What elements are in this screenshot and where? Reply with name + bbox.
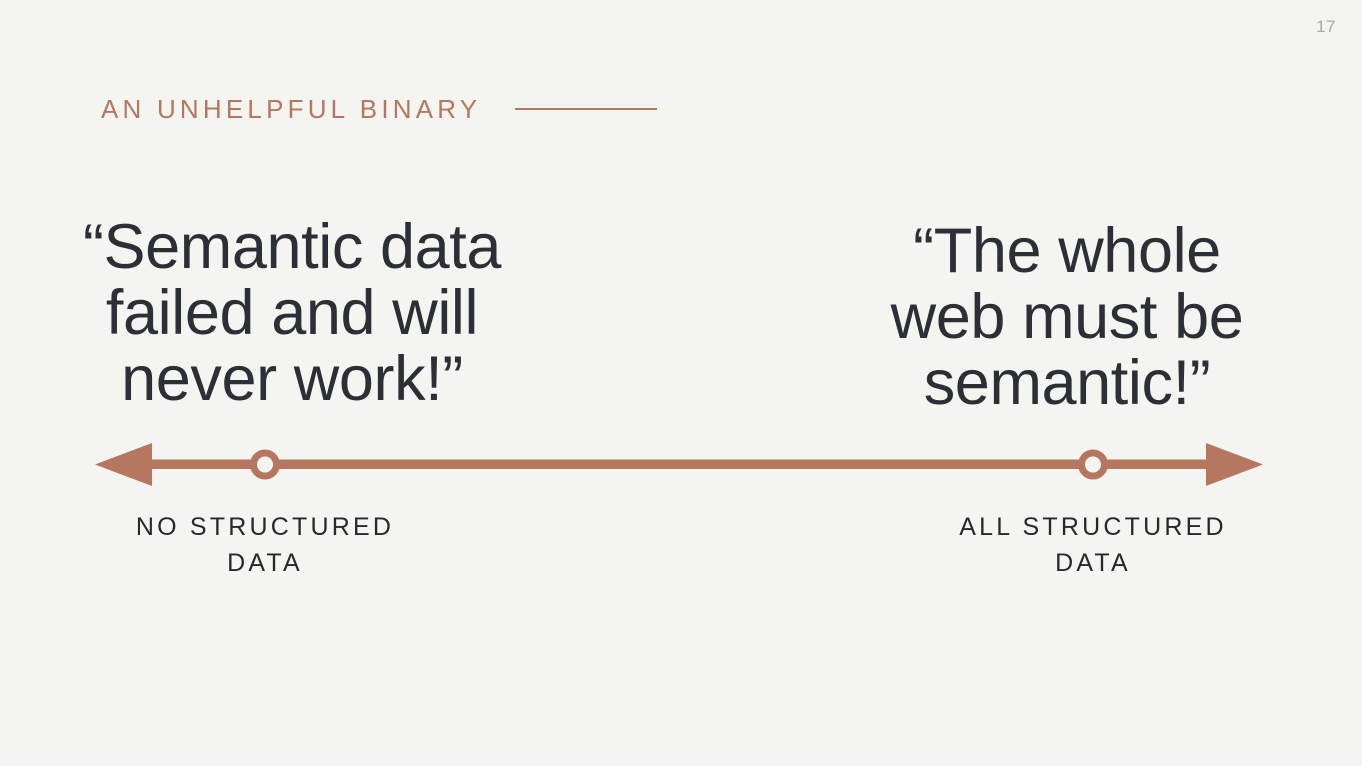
quote-right: “The whole web must be semantic!” — [867, 218, 1267, 416]
marker-right-core — [1085, 457, 1101, 473]
axis-label-left: No structured data — [65, 510, 465, 581]
axis-line — [128, 460, 1230, 470]
page-number: 17 — [1316, 18, 1336, 35]
section-eyebrow: An unhelpful binary — [101, 96, 657, 122]
page-title: An unhelpful binary — [101, 96, 481, 122]
axis-label-right: All structured data — [893, 510, 1293, 581]
spectrum-axis — [0, 432, 1362, 496]
quote-left: “Semantic data failed and will never wor… — [62, 214, 522, 412]
spectrum-arrow-graphic — [0, 432, 1362, 496]
marker-left-core — [257, 457, 273, 473]
arrow-right-icon — [1206, 443, 1263, 486]
eyebrow-rule-divider — [515, 108, 657, 110]
arrow-left-icon — [95, 443, 152, 486]
